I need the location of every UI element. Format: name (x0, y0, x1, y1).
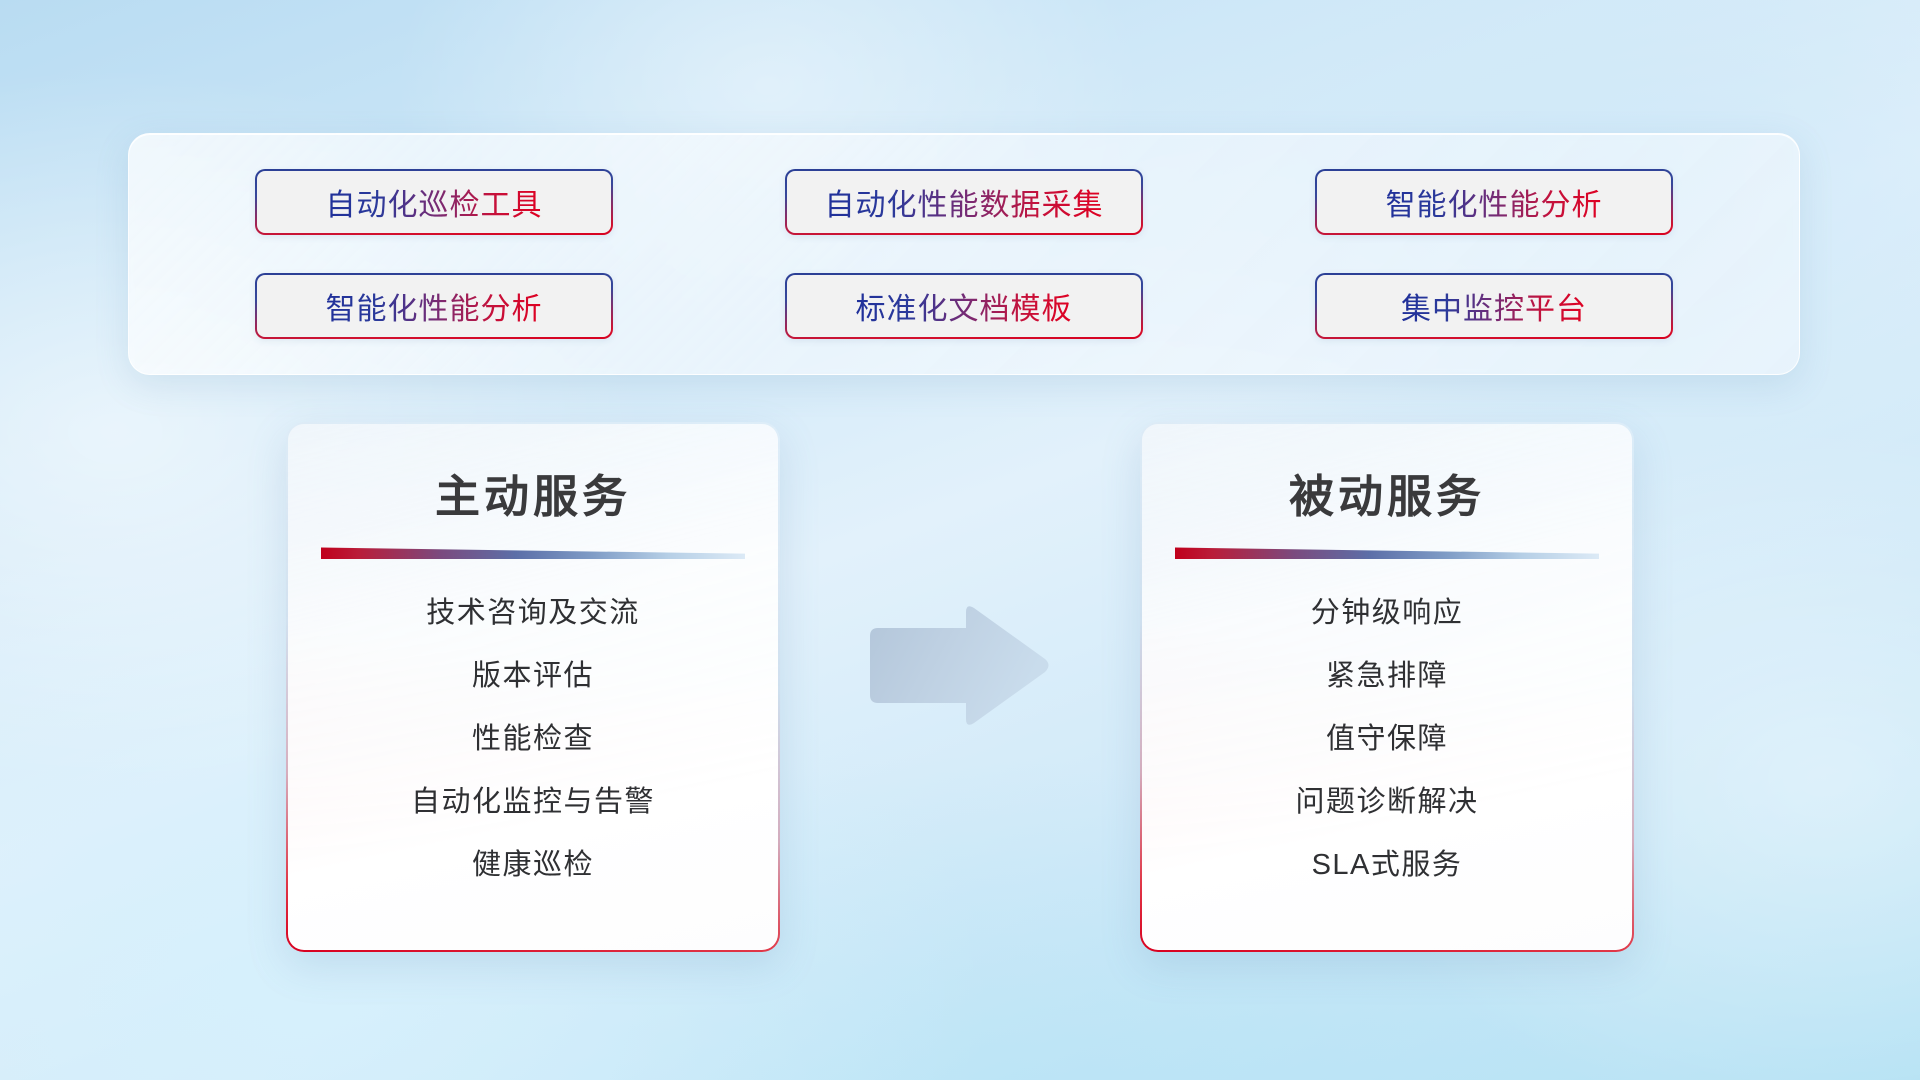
card-item-list: 技术咨询及交流 版本评估 性能检查 自动化监控与告警 健康巡检 (288, 587, 778, 892)
capability-pill-6[interactable]: 集中监控平台 (1315, 273, 1673, 339)
list-item: 性能检查 (472, 713, 594, 766)
capabilities-panel: 自动化巡检工具 自动化性能数据采集 智能化性能分析 智能化性能分析 标准化文档模… (128, 133, 1800, 375)
slide-stage: 自动化巡检工具 自动化性能数据采集 智能化性能分析 智能化性能分析 标准化文档模… (0, 0, 1920, 1080)
list-item: 健康巡检 (472, 839, 594, 892)
list-item: 版本评估 (472, 650, 594, 703)
card-title: 主动服务 (288, 460, 778, 525)
arrow-right-icon (862, 602, 1052, 730)
list-item: 技术咨询及交流 (426, 587, 640, 640)
list-item: 值守保障 (1326, 713, 1448, 766)
card-title-underline (1175, 545, 1599, 559)
capability-pill-4[interactable]: 智能化性能分析 (255, 273, 613, 339)
capability-pill-1[interactable]: 自动化巡检工具 (255, 169, 613, 235)
card-title-underline (321, 545, 745, 559)
capability-pill-label: 自动化性能数据采集 (825, 180, 1104, 224)
service-card-passive: 被动服务 分钟级响应 紧急排障 值守保障 问题诊断解决 SLA式服务 (1140, 422, 1634, 952)
list-item: 分钟级响应 (1311, 587, 1464, 640)
capability-pill-label: 标准化文档模板 (856, 284, 1073, 328)
capability-pill-3[interactable]: 智能化性能分析 (1315, 169, 1673, 235)
flow-arrow (862, 602, 1052, 730)
service-card-active: 主动服务 技术咨询及交流 版本评估 性能检查 自动化监控与告警 健康巡检 (286, 422, 780, 952)
list-item: 问题诊断解决 (1295, 776, 1478, 829)
capability-pill-label: 集中监控平台 (1401, 284, 1587, 328)
list-item: SLA式服务 (1312, 839, 1463, 892)
capabilities-grid: 自动化巡检工具 自动化性能数据采集 智能化性能分析 智能化性能分析 标准化文档模… (129, 134, 1799, 374)
capability-pill-5[interactable]: 标准化文档模板 (785, 273, 1143, 339)
capability-pill-2[interactable]: 自动化性能数据采集 (785, 169, 1143, 235)
card-title: 被动服务 (1142, 460, 1632, 525)
card-item-list: 分钟级响应 紧急排障 值守保障 问题诊断解决 SLA式服务 (1142, 587, 1632, 892)
capability-pill-label: 智能化性能分析 (326, 284, 543, 328)
list-item: 紧急排障 (1326, 650, 1448, 703)
list-item: 自动化监控与告警 (411, 776, 655, 829)
capability-pill-label: 自动化巡检工具 (326, 180, 543, 224)
capability-pill-label: 智能化性能分析 (1386, 180, 1603, 224)
